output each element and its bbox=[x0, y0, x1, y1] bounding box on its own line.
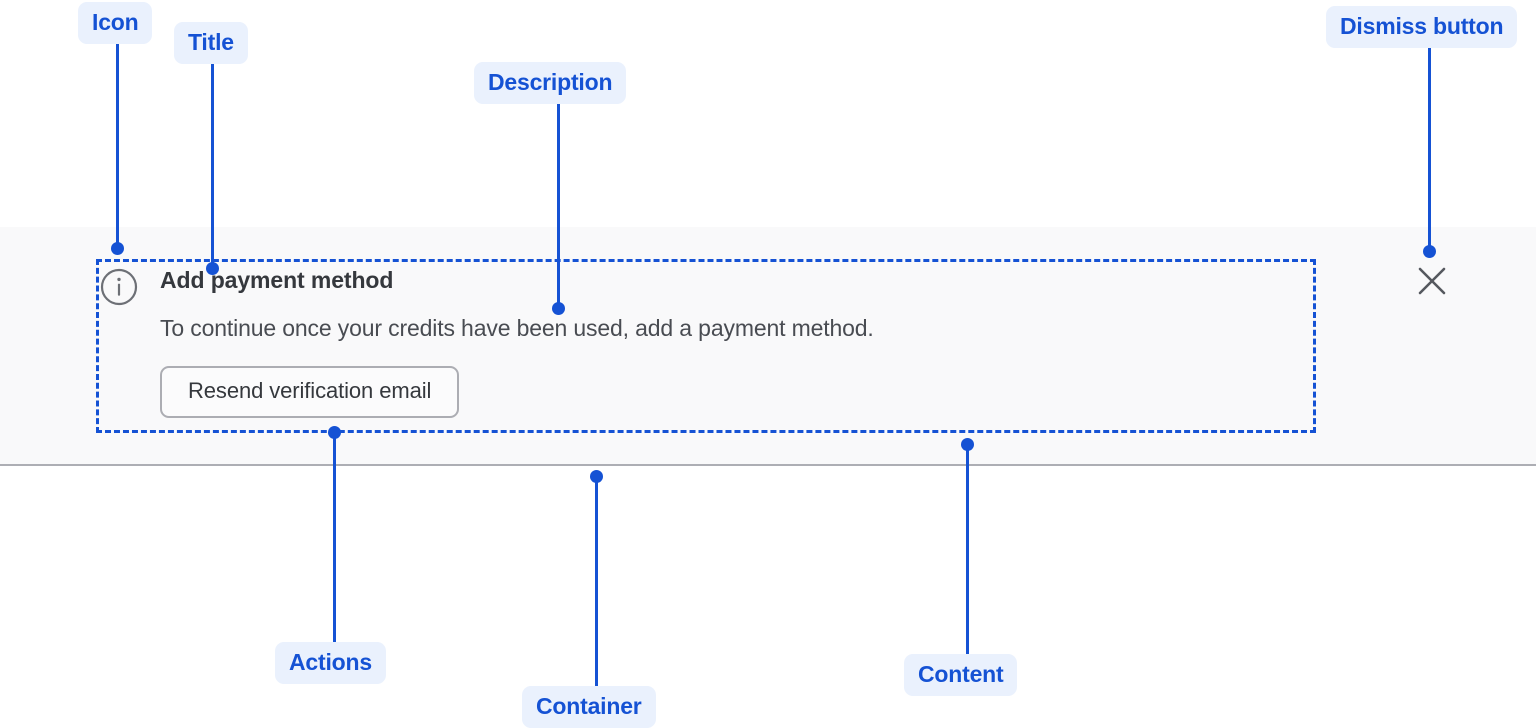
annotation-leader-container bbox=[595, 480, 598, 686]
annotation-leader-dismiss-button bbox=[1428, 48, 1431, 252]
close-x-icon bbox=[1412, 261, 1452, 301]
annotation-label-container: Container bbox=[522, 686, 656, 728]
dismiss-button[interactable] bbox=[1412, 261, 1452, 301]
resend-verification-email-button[interactable]: Resend verification email bbox=[160, 366, 459, 418]
info-circle-icon bbox=[100, 268, 138, 306]
banner-text-column: Add payment method To continue once your… bbox=[160, 259, 1316, 418]
annotation-label-actions: Actions bbox=[275, 642, 386, 684]
annotation-label-dismiss-button: Dismiss button bbox=[1326, 6, 1517, 48]
annotation-label-content: Content bbox=[904, 654, 1017, 696]
banner-content: Add payment method To continue once your… bbox=[96, 259, 1316, 433]
annotation-label-title: Title bbox=[174, 22, 248, 64]
banner-title: Add payment method bbox=[160, 259, 1316, 297]
annotation-leader-icon bbox=[116, 44, 119, 248]
banner-actions: Resend verification email bbox=[160, 345, 1316, 418]
annotation-label-icon: Icon bbox=[78, 2, 152, 44]
banner-description: To continue once your credits have been … bbox=[160, 297, 1316, 345]
annotation-label-description: Description bbox=[474, 62, 626, 104]
annotation-leader-content bbox=[966, 448, 969, 654]
annotation-dot-container bbox=[590, 470, 603, 483]
annotation-leader-actions bbox=[333, 436, 336, 642]
